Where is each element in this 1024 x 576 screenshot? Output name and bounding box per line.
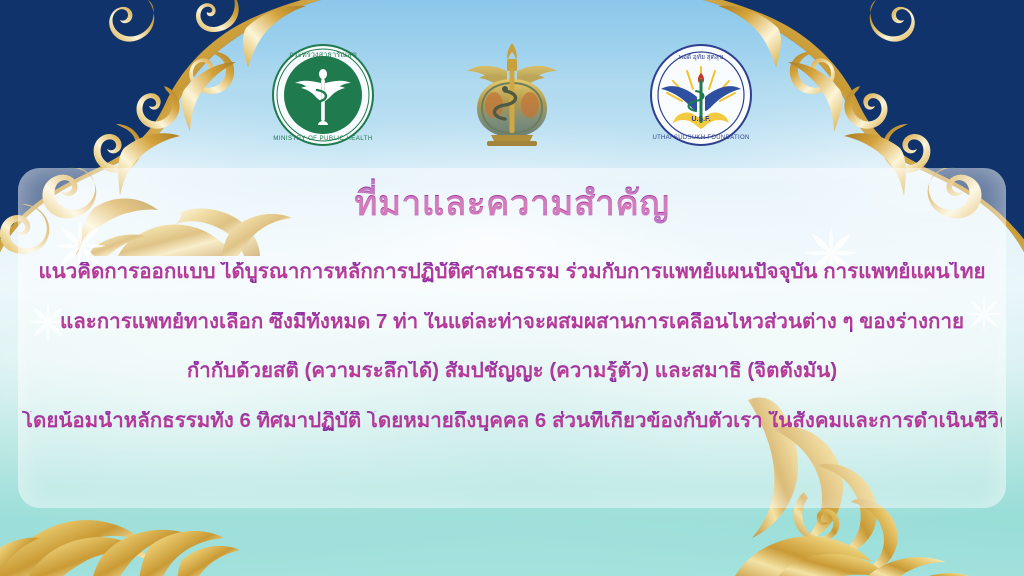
utai-sudsukh-foundation-logo: พอดี อุทัย สุดสุข UTHAI SUDSUKH FOUNDATI… <box>649 43 753 147</box>
body-line-4: โดยน้อมนำหลักธรรมทั้ง 6 ทิศมาปฏิบัติ โดย… <box>22 411 1002 432</box>
usf-english-name: UTHAI SUDSUKH FOUNDATION <box>652 135 749 141</box>
body-line-1: แนวคิดการออกแบบ ได้บูรณาการหลักการปฏิบัต… <box>22 262 1002 283</box>
slide-body: แนวคิดการออกแบบ ได้บูรณาการหลักการปฏิบัต… <box>22 262 1002 431</box>
usf-thai-name: พอดี อุทัย สุดสุข <box>679 53 724 61</box>
usf-abbreviation: U.S.F. <box>691 116 710 123</box>
mph-thai-name: กระทรวงสาธารณสุข <box>289 50 357 59</box>
body-line-3: กำกับด้วยสติ (ความระลึกได้) สัมปชัญญะ (ค… <box>22 361 1002 382</box>
slide-title: ที่มาและความสำคัญ <box>0 176 1024 231</box>
logo-row: กระทรวงสาธารณสุข MINISTRY OF PUBLIC HEAL… <box>0 34 1024 156</box>
department-of-thai-traditional-medicine-emblem <box>457 41 567 149</box>
mph-english-name: MINISTRY OF PUBLIC HEALTH <box>273 135 372 142</box>
ministry-of-public-health-logo: กระทรวงสาธารณสุข MINISTRY OF PUBLIC HEAL… <box>271 43 375 147</box>
slide-canvas: กระทรวงสาธารณสุข MINISTRY OF PUBLIC HEAL… <box>0 0 1024 576</box>
body-line-2: และการแพทย์ทางเลือก ซึ่งมีทั้งหมด 7 ท่า … <box>22 312 1002 333</box>
